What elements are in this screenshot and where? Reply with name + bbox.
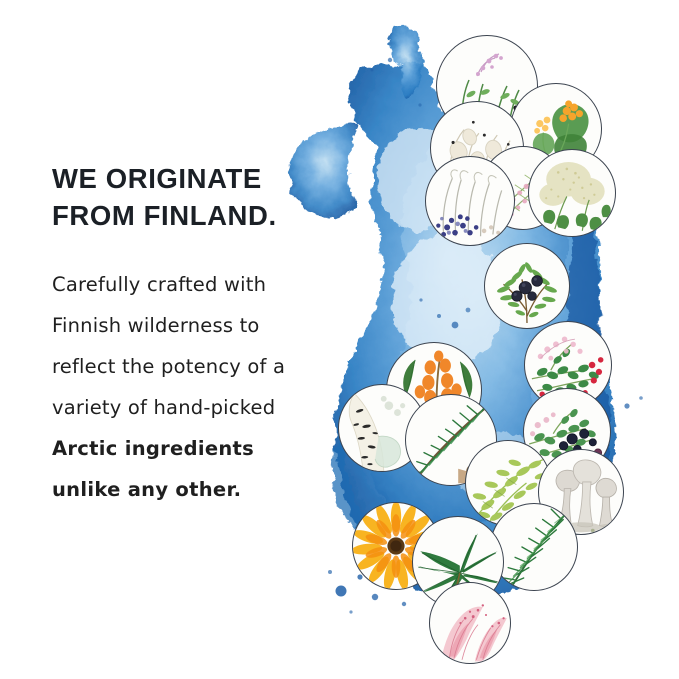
body-line: Finnish wilderness to — [52, 305, 352, 346]
poster-canvas: WE ORIGINATE FROM FINLAND. Carefully cra… — [0, 0, 679, 679]
body-copy: Carefully crafted with Finnish wildernes… — [52, 264, 352, 510]
meadowsweet-circle — [528, 149, 616, 237]
juniper-berry-circle — [484, 243, 570, 329]
body-line: variety of hand-picked — [52, 387, 352, 428]
page-title: WE ORIGINATE FROM FINLAND. — [52, 160, 352, 234]
body-line-emphasis: Arctic ingredients — [52, 428, 352, 469]
body-line: reflect the potency of a — [52, 346, 352, 387]
pink-algae-circle — [429, 582, 511, 664]
copy-block: WE ORIGINATE FROM FINLAND. Carefully cra… — [52, 160, 352, 510]
spruce-sprig-circle — [490, 503, 578, 591]
body-line: Carefully crafted with — [52, 264, 352, 305]
blueberry-grass-circle — [425, 156, 515, 246]
body-line-emphasis: unlike any other. — [52, 469, 352, 510]
